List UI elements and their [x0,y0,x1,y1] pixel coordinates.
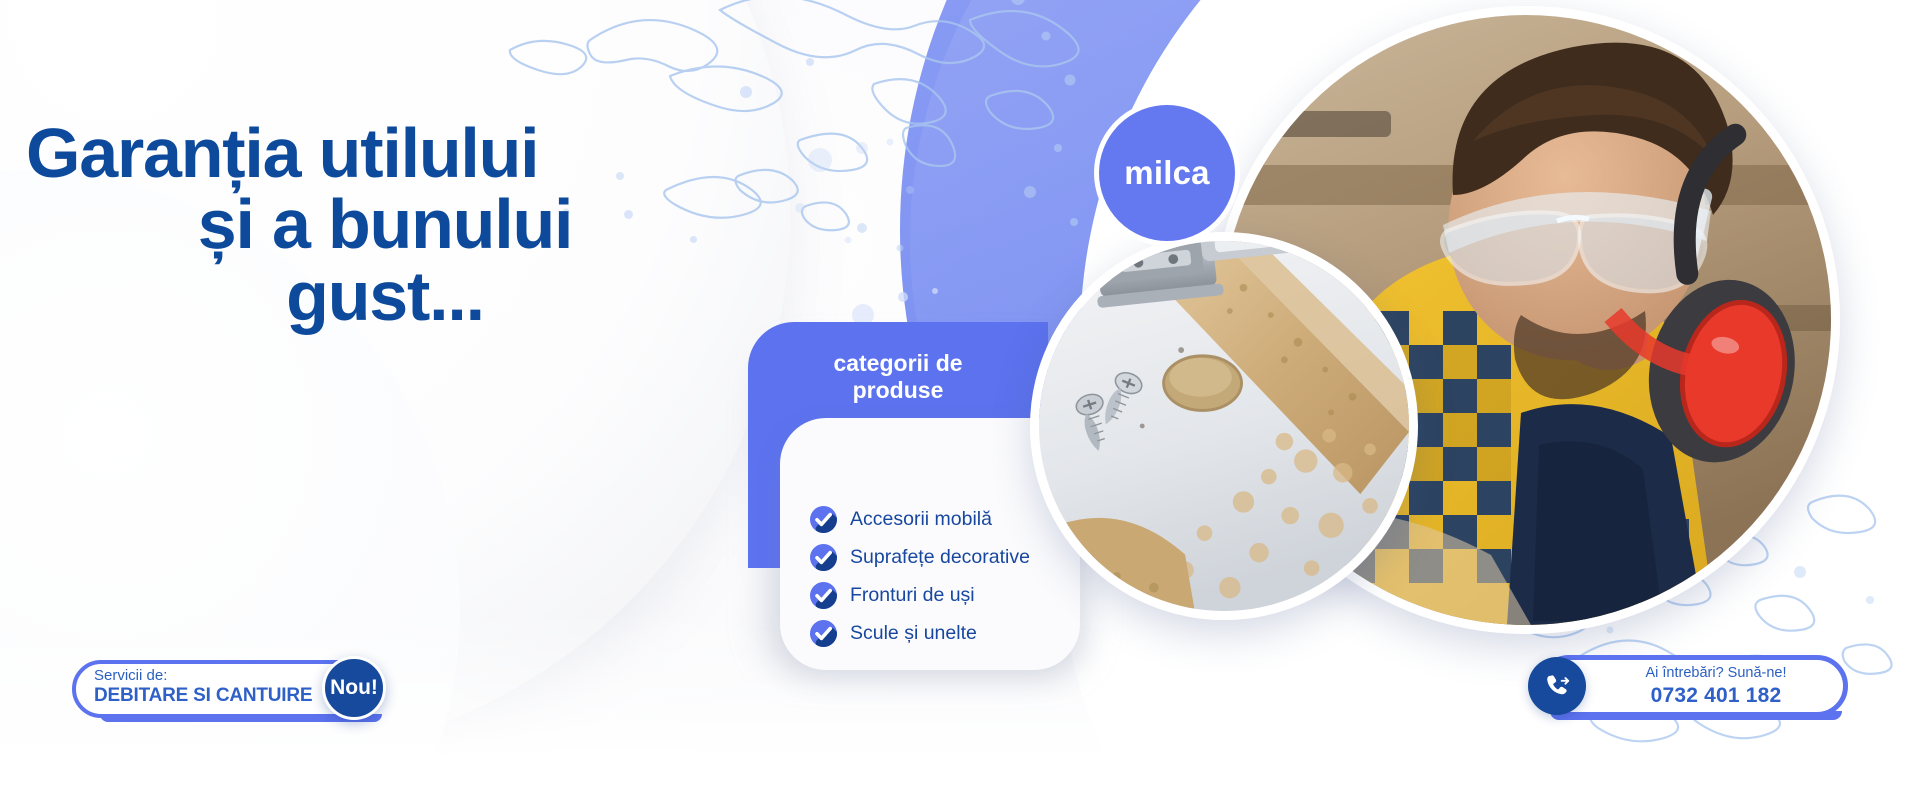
list-item-label: Suprafețe decorative [850,546,1030,569]
phone-glyph [1543,672,1571,700]
list-item[interactable]: Scule și unelte [810,618,1100,648]
photo-hardware-image [1039,241,1409,611]
service-badge-text: Servicii de: DEBITARE SI CANTUIRE [94,668,312,706]
list-item-label: Accesorii mobilă [850,508,992,531]
categories-header-line-1: categorii de [833,350,962,376]
service-badge-title: DEBITARE SI CANTUIRE [94,685,312,706]
check-circle-icon [810,582,837,609]
list-item-label: Scule și unelte [850,622,977,645]
new-badge[interactable]: Nou! [322,656,386,720]
bubble-decor [932,288,938,294]
promo-banner: Garanția utilului și a bunului gust... [0,0,1920,800]
check-circle-icon [810,544,837,571]
photo-hardware [1030,232,1418,620]
contact-badge[interactable]: Ai întrebări? Sună-ne! 0732 401 182 [1528,655,1858,725]
headline: Garanția utilului și a bunului gust... [20,118,710,332]
headline-line-1: Garanția utilului [20,118,710,189]
contact-badge-text: Ai întrebări? Sună-ne! 0732 401 182 [1596,665,1836,708]
service-badge-caption: Servicii de: [94,668,312,685]
bubble-decor [898,292,908,302]
headline-line-3: gust... [20,261,710,332]
bubble-decor [806,58,814,66]
check-circle-icon [810,620,837,647]
contact-question: Ai întrebări? Sună-ne! [1596,665,1836,683]
check-circle-icon [810,506,837,533]
service-badge[interactable]: Servicii de: DEBITARE SI CANTUIRE Nou! [72,660,392,722]
bubble-decor [740,86,752,98]
headline-line-2: și a bunului [20,189,710,260]
contact-phone-number: 0732 401 182 [1596,683,1836,709]
list-item-label: Fronturi de uși [850,584,975,607]
milca-logo-badge[interactable]: milca [1094,100,1240,246]
phone-icon [1528,657,1586,715]
milca-logo-text: milca [1094,100,1240,246]
categories-header-line-2: produse [853,377,944,403]
